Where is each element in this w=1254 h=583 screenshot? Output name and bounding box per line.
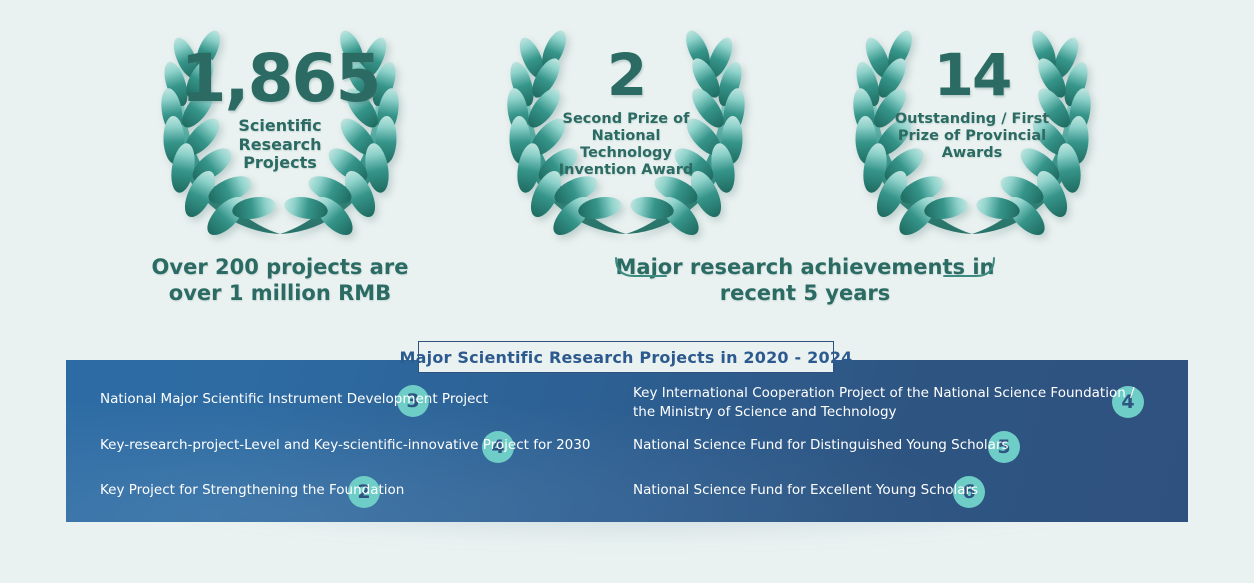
project-name: Key Project for Strengthening the Founda… — [100, 481, 404, 500]
stat-value: 2 — [607, 48, 645, 103]
projects-left-column: 3 4 2 National Major Scientific Instrume… — [100, 360, 630, 522]
caption-major-achievements: Major research achievements in recent 5 … — [600, 254, 1010, 307]
list-item[interactable]: National Science Fund for Distinguished … — [633, 436, 1009, 455]
project-name: National Science Fund for Excellent Youn… — [633, 481, 978, 500]
stat-card-provincial-awards: 14 Outstanding / First Prize of Provinci… — [822, 18, 1122, 250]
project-name: National Science Fund for Distinguished … — [633, 436, 1009, 455]
stat-card-scientific-research-projects: 1,865 Scientific Research Projects — [130, 18, 430, 250]
stat-value: 1,865 — [181, 48, 380, 111]
list-item[interactable]: Key International Cooperation Project of… — [633, 384, 1135, 422]
stats-row: 1,865 Scientific Research Projects — [0, 0, 1254, 250]
stat-label: Second Prize of National Technology Inve… — [551, 111, 701, 179]
stat-value: 14 — [934, 48, 1011, 103]
caption-major-achievements-text: Major research achievements in recent 5 … — [600, 254, 1010, 307]
infographic-canvas: 1,865 Scientific Research Projects — [0, 0, 1254, 583]
stat-card-national-technology-invention-award: 2 Second Prize of National Technology In… — [476, 18, 776, 250]
projects-right-column: 4 5 6 Key International Cooperation Proj… — [633, 360, 1178, 522]
list-item[interactable]: Key Project for Strengthening the Founda… — [100, 481, 404, 500]
stat-label: Outstanding / First Prize of Provincial … — [895, 111, 1050, 162]
list-item[interactable]: National Major Scientific Instrument Dev… — [100, 390, 488, 409]
project-name: Key International Cooperation Project of… — [633, 384, 1135, 422]
list-item[interactable]: National Science Fund for Excellent Youn… — [633, 481, 978, 500]
projects-columns: 3 4 2 National Major Scientific Instrume… — [66, 360, 1188, 522]
project-name: National Major Scientific Instrument Dev… — [100, 390, 488, 409]
list-item[interactable]: Key-research-project-Level and Key-scien… — [100, 436, 590, 455]
stat-label: Scientific Research Projects — [200, 117, 360, 174]
project-name: Key-research-project-Level and Key-scien… — [100, 436, 590, 455]
caption-funding: Over 200 projects are over 1 million RMB — [130, 254, 430, 307]
